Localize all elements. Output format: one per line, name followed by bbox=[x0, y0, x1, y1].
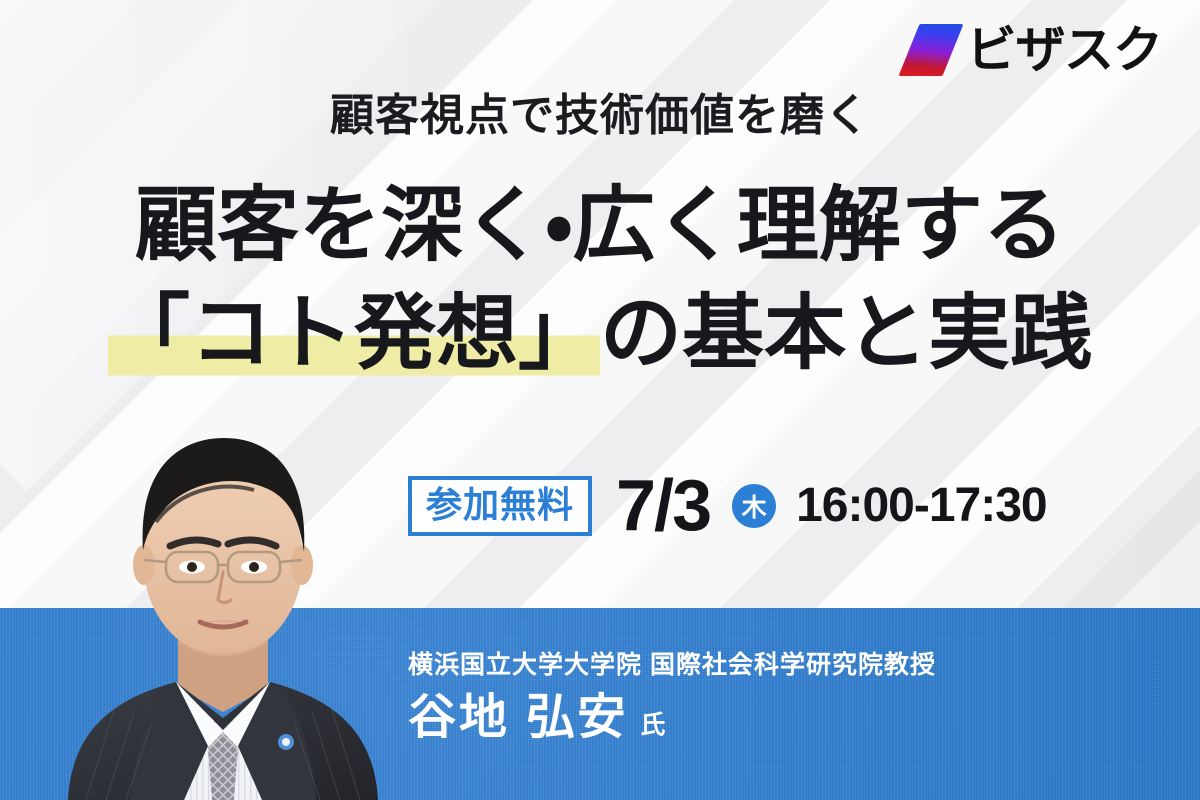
banner-subtitle: 顧客視点で技術価値を磨く bbox=[0, 92, 1200, 140]
brand-logo[interactable]: ビザスク bbox=[909, 24, 1163, 76]
title-line-2-suffix: の基本と実践 bbox=[600, 288, 1092, 379]
title-line-2: 「コト発想」の基本と実践 bbox=[0, 280, 1200, 388]
day-of-week-badge: 木 bbox=[732, 484, 776, 528]
title-line-1: 顧客を深く・広く理解する bbox=[0, 172, 1200, 280]
speaker-affiliation: 横浜国立大学大学院 国際社会科学研究院教授 bbox=[408, 650, 936, 680]
free-admission-badge: 参加無料 bbox=[408, 476, 592, 536]
brand-logo-text: ビザスク bbox=[967, 25, 1163, 75]
speaker-portrait-photo bbox=[58, 410, 388, 800]
title-highlight-phrase: 「コト発想」 bbox=[108, 288, 600, 379]
speaker-honorific: 氏 bbox=[640, 713, 665, 738]
webinar-banner: ビザスク 顧客視点で技術価値を磨く 顧客を深く・広く理解する 「コト発想」の基本… bbox=[0, 0, 1200, 800]
slash-mark-icon bbox=[898, 24, 963, 76]
speaker-info: 横浜国立大学大学院 国際社会科学研究院教授 谷地 弘安 氏 bbox=[408, 650, 936, 742]
banner-title: 顧客を深く・広く理解する 「コト発想」の基本と実践 bbox=[0, 172, 1200, 388]
event-date: 7/3 bbox=[616, 470, 710, 542]
event-datetime-row: 参加無料 7/3 木 16:00-17:30 bbox=[408, 470, 1047, 542]
speaker-name: 谷地 弘安 bbox=[408, 694, 628, 742]
event-time: 16:00-17:30 bbox=[796, 482, 1047, 530]
speaker-name-row: 谷地 弘安 氏 bbox=[408, 694, 936, 742]
